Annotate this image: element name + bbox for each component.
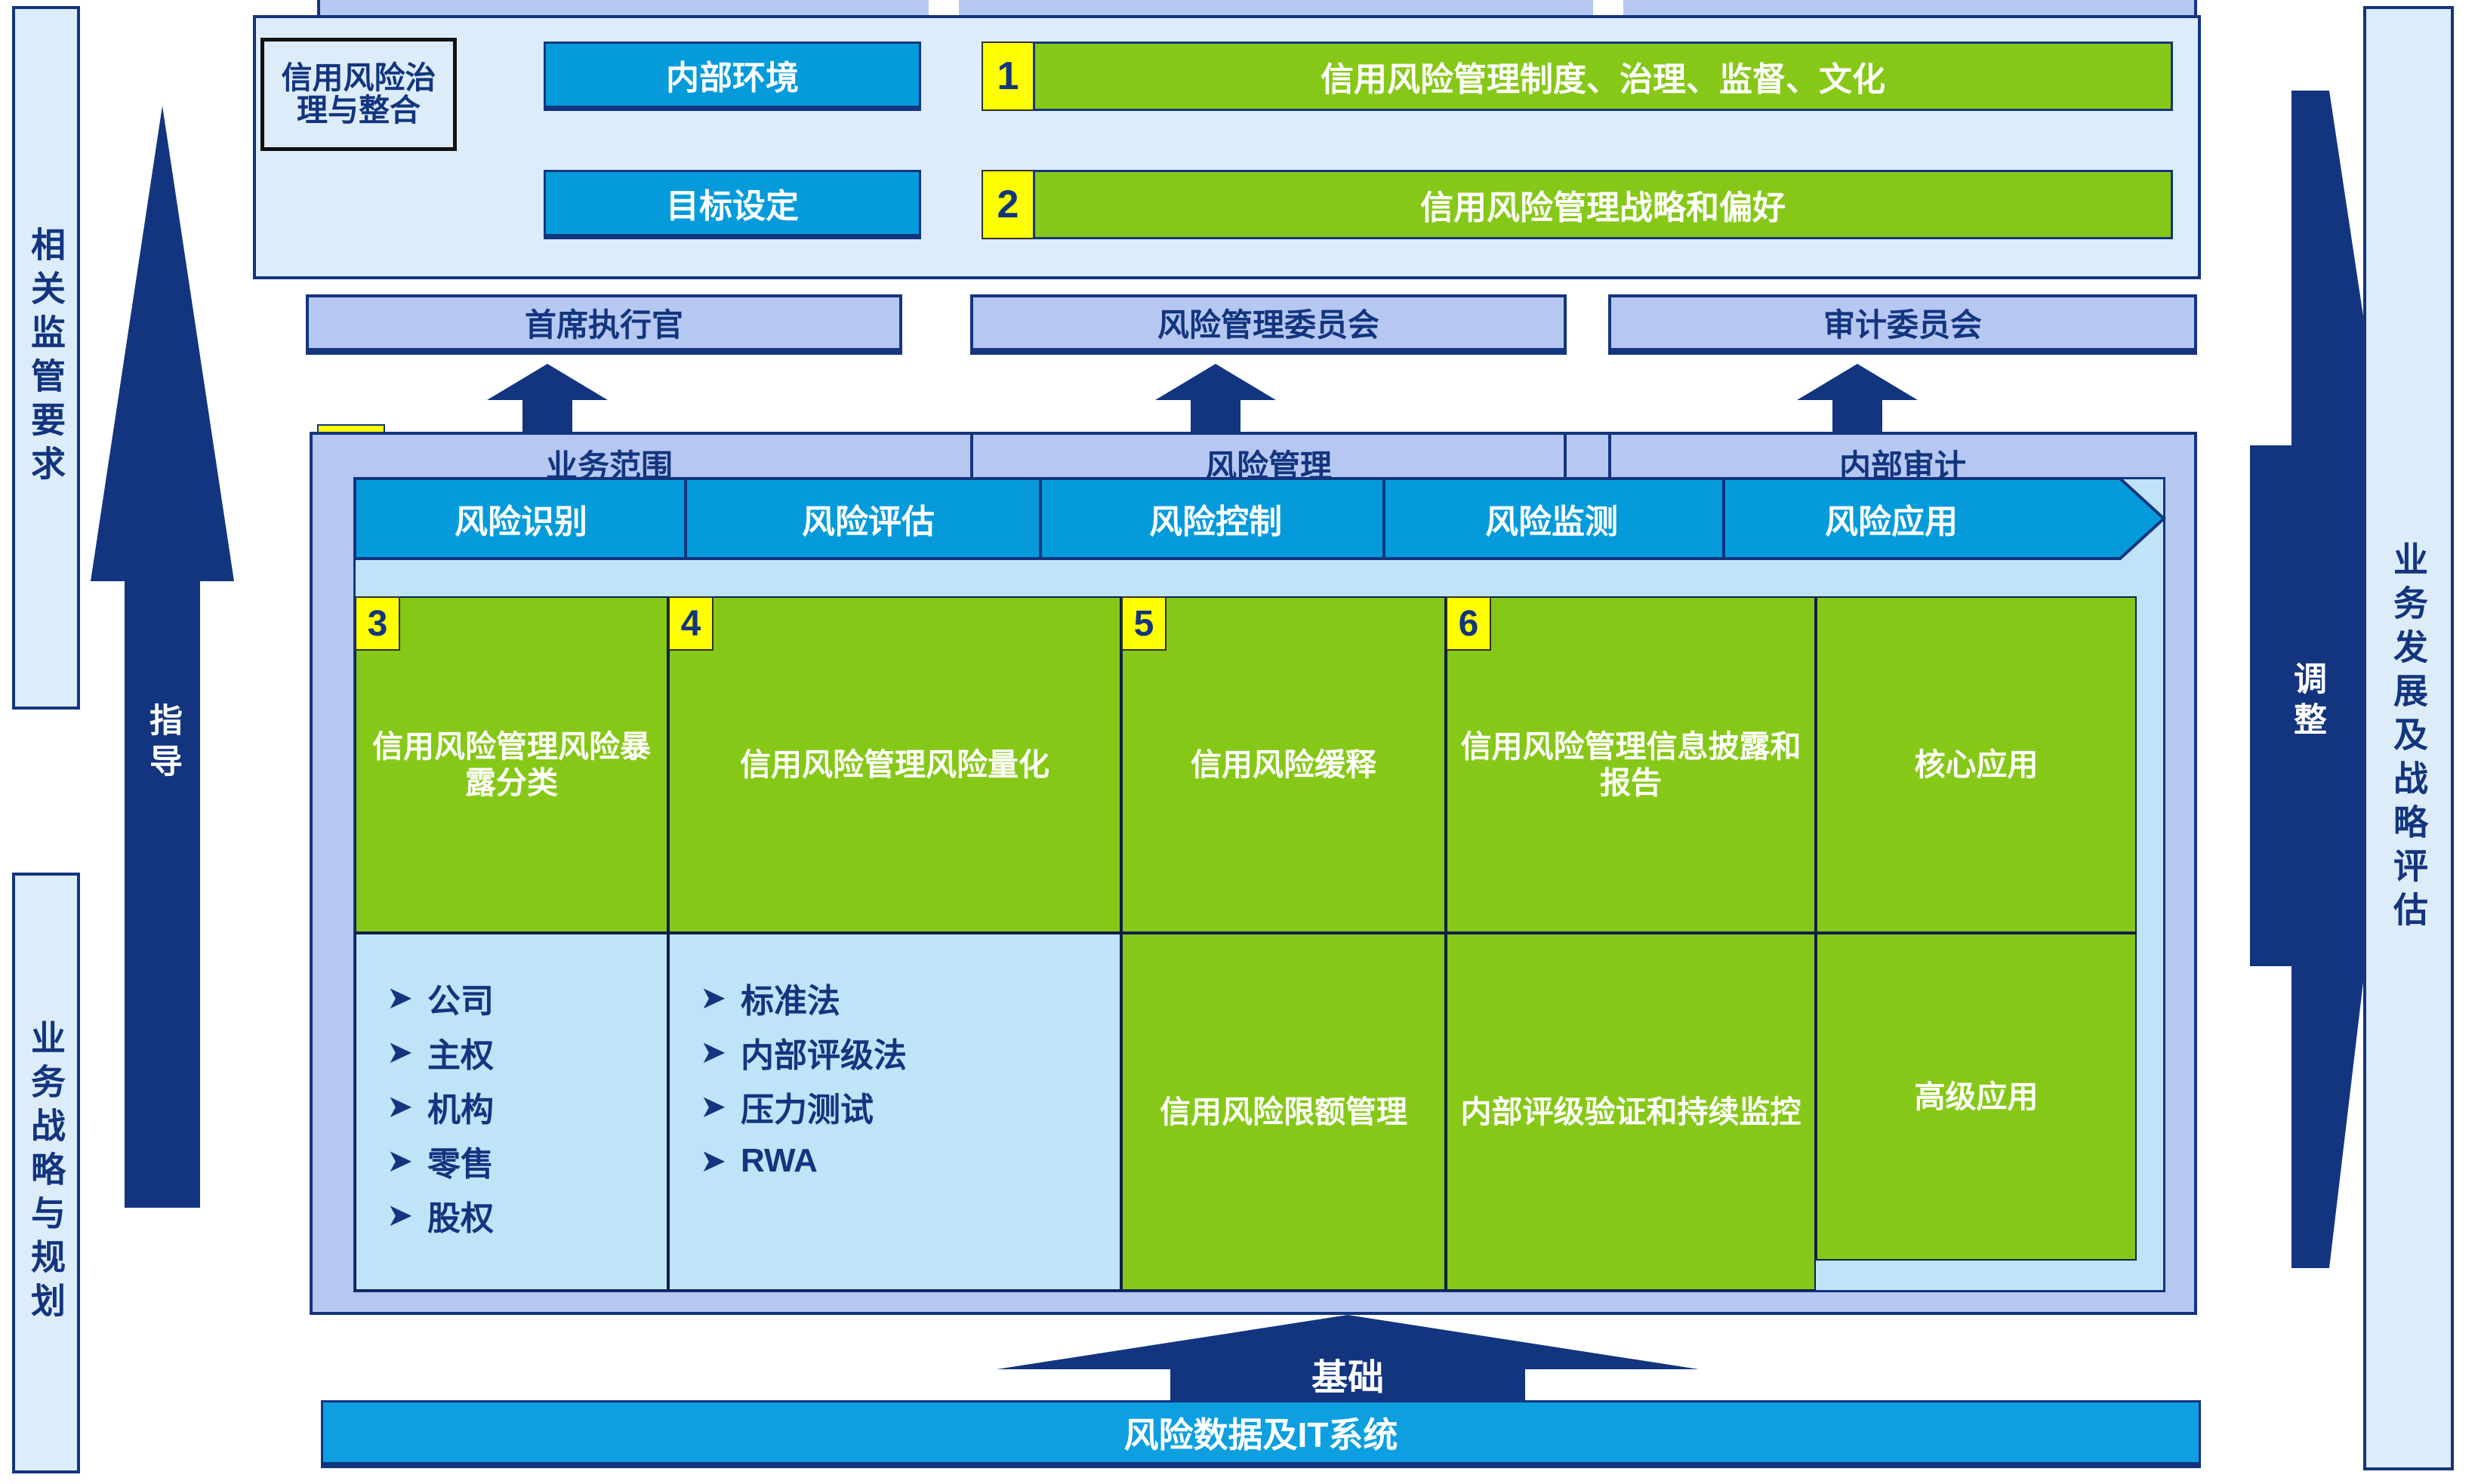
lower-cell-credit-limit-management: 信用风险限额管理 — [1121, 933, 1446, 1291]
bullet-arrow-icon: ➤ — [700, 1036, 741, 1068]
bullet-cell-measurement-approaches: ➤ 标准法 ➤ 内部评级法 ➤ 压力测试 ➤ RWA — [668, 933, 1121, 1291]
lower-cell-rating-validation: 内部评级验证和持续监控 — [1446, 933, 1816, 1291]
foundation-arrow-label: 基础 — [997, 1344, 1699, 1404]
content-cell-4: 信用风险管理风险量化 — [668, 596, 1121, 933]
guidance-arrow-icon — [91, 53, 234, 1261]
content-cell-5: 信用风险缓释 — [1121, 596, 1446, 933]
bullet-arrow-icon: ➤ — [700, 1091, 741, 1122]
step-number-badge-2: 2 — [982, 170, 1034, 239]
bullet-arrow-icon: ➤ — [387, 1091, 427, 1122]
bottom-bar-risk-data-it: 风险数据及IT系统 — [321, 1400, 2201, 1468]
bullet-arrow-icon: ➤ — [387, 1145, 427, 1177]
page-title: 信用风险治理与整合 — [267, 62, 450, 127]
list-item: ➤ 机构 — [387, 1079, 667, 1134]
process-step-risk-control: 风险控制 — [1049, 477, 1382, 560]
left-panel-business-strategy: 业务战略与规划 — [12, 873, 80, 1473]
org-role-audit-committee: 审计委员会 — [1608, 294, 2197, 355]
step-number-badge-3: 3 — [355, 596, 400, 651]
lower-cell-advanced-application: 高级应用 — [1816, 933, 2137, 1261]
list-item: ➤ 股权 — [387, 1188, 667, 1242]
bullet-arrow-icon: ➤ — [700, 982, 741, 1014]
step-number-badge-1: 1 — [982, 42, 1034, 111]
diagram-title-box: 信用风险治理与整合 — [260, 38, 457, 151]
process-step-risk-assessment: 风险评估 — [695, 477, 1042, 560]
right-panel-business-development: 业务发展及战略评估 — [2363, 6, 2454, 1470]
step-number-badge-6: 6 — [1446, 596, 1491, 651]
org-role-ceo: 首席执行官 — [306, 294, 902, 355]
governance-stage-objective-setting: 目标设定 — [544, 170, 921, 239]
content-cell-3: 信用风险管理风险暴露分类 — [355, 596, 668, 933]
connector-arrow-icon-2 — [1155, 364, 1276, 432]
step-number-badge-4: 4 — [668, 596, 713, 651]
governance-stage-internal-environment: 内部环境 — [544, 42, 921, 111]
bullet-arrow-icon: ➤ — [387, 982, 427, 1014]
bullet-arrow-icon: ➤ — [387, 1036, 427, 1068]
governance-desc-1: 信用风险管理制度、治理、监督、文化 — [1033, 42, 2173, 111]
right-panel-label: 业务发展及战略评估 — [2384, 541, 2433, 935]
guidance-arrow-label: 指导 — [91, 679, 234, 808]
list-item: ➤ 主权 — [387, 1025, 667, 1079]
process-step-risk-application: 风险应用 — [1725, 477, 2057, 560]
connector-arrow-icon-3 — [1797, 364, 1918, 432]
list-item: ➤ 压力测试 — [700, 1079, 1120, 1134]
connector-arrow-icon-1 — [487, 364, 608, 432]
bullet-cell-exposure-classes: ➤ 公司 ➤ 主权 ➤ 机构 ➤ 零售 ➤ 股权 — [355, 933, 668, 1291]
list-item: ➤ 标准法 — [700, 971, 1120, 1025]
content-cell-core-application: 核心应用 — [1816, 596, 2137, 933]
bullet-arrow-icon: ➤ — [387, 1199, 427, 1231]
content-cell-6: 信用风险管理信息披露和报告 — [1446, 596, 1816, 933]
list-item: ➤ RWA — [700, 1134, 1120, 1188]
governance-desc-2: 信用风险管理战略和偏好 — [1033, 170, 2173, 239]
list-item: ➤ 零售 — [387, 1134, 667, 1188]
left-panel-label: 业务战略与规划 — [21, 1020, 71, 1326]
list-item: ➤ 公司 — [387, 971, 667, 1025]
org-role-risk-committee: 风险管理委员会 — [970, 294, 1567, 355]
process-step-risk-identification: 风险识别 — [355, 477, 687, 560]
left-panel-regulatory-requirements: 相关监管要求 — [12, 6, 80, 710]
left-panel-label: 相关监管要求 — [21, 226, 71, 489]
adjust-arrow-label: 调整 — [2250, 645, 2363, 759]
bullet-arrow-icon: ➤ — [700, 1145, 741, 1177]
step-number-badge-5: 5 — [1121, 596, 1167, 651]
list-item: ➤ 内部评级法 — [700, 1025, 1120, 1079]
process-step-risk-monitoring: 风险监测 — [1389, 477, 1714, 560]
